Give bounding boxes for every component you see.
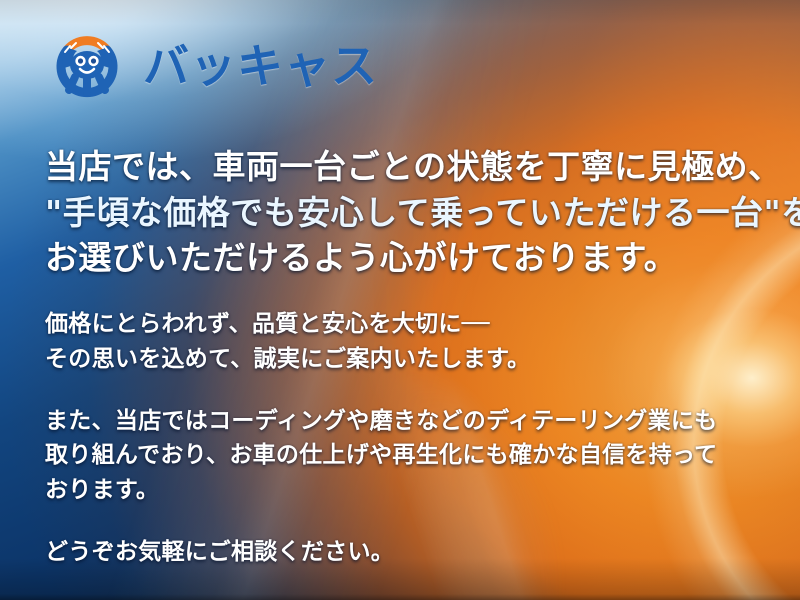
headline-line-1: 当店では、車両一台ごとの状態を丁寧に見極め、 — [45, 144, 800, 190]
paragraph-philosophy-line-2: その思いを込めて、誠実にご案内いたします。 — [45, 342, 800, 377]
headline: 当店では、車両一台ごとの状態を丁寧に見極め、 "手頃な価格でも安心して乗っていた… — [45, 144, 800, 281]
paragraph-detailing-line-2: 取り組んでおり、お車の仕上げや再生化にも確かな自信を持って — [45, 438, 800, 473]
brand-wordmark: バッキャス — [143, 43, 378, 89]
paragraph-call-to-action-line-1: どうぞお気軽にご相談ください。 — [45, 535, 800, 570]
headline-line-3: お選びいただけるよう心がけております。 — [45, 235, 800, 281]
banner-content: バッキャス 当店では、車両一台ごとの状態を丁寧に見極め、 "手頃な価格でも安心し… — [0, 0, 800, 570]
paragraph-philosophy-line-1: 価格にとらわれず、品質と安心を大切に── — [45, 307, 800, 342]
steering-wheel-mascot-icon — [45, 28, 129, 104]
paragraph-detailing-line-3: おります。 — [45, 473, 800, 508]
headline-line-2: "手頃な価格でも安心して乗っていただける一台"を — [45, 190, 800, 236]
brand-logo: バッキャス — [45, 30, 800, 102]
promotional-banner: バッキャス 当店では、車両一台ごとの状態を丁寧に見極め、 "手頃な価格でも安心し… — [0, 0, 800, 600]
paragraph-detailing-line-1: また、当店ではコーディングや磨きなどのディテーリング業にも — [45, 404, 800, 439]
paragraph-call-to-action: どうぞお気軽にご相談ください。 — [45, 535, 800, 570]
paragraph-detailing-services: また、当店ではコーディングや磨きなどのディテーリング業にも 取り組んでおり、お車… — [45, 404, 800, 509]
paragraph-philosophy: 価格にとらわれず、品質と安心を大切に── その思いを込めて、誠実にご案内いたしま… — [45, 307, 800, 377]
